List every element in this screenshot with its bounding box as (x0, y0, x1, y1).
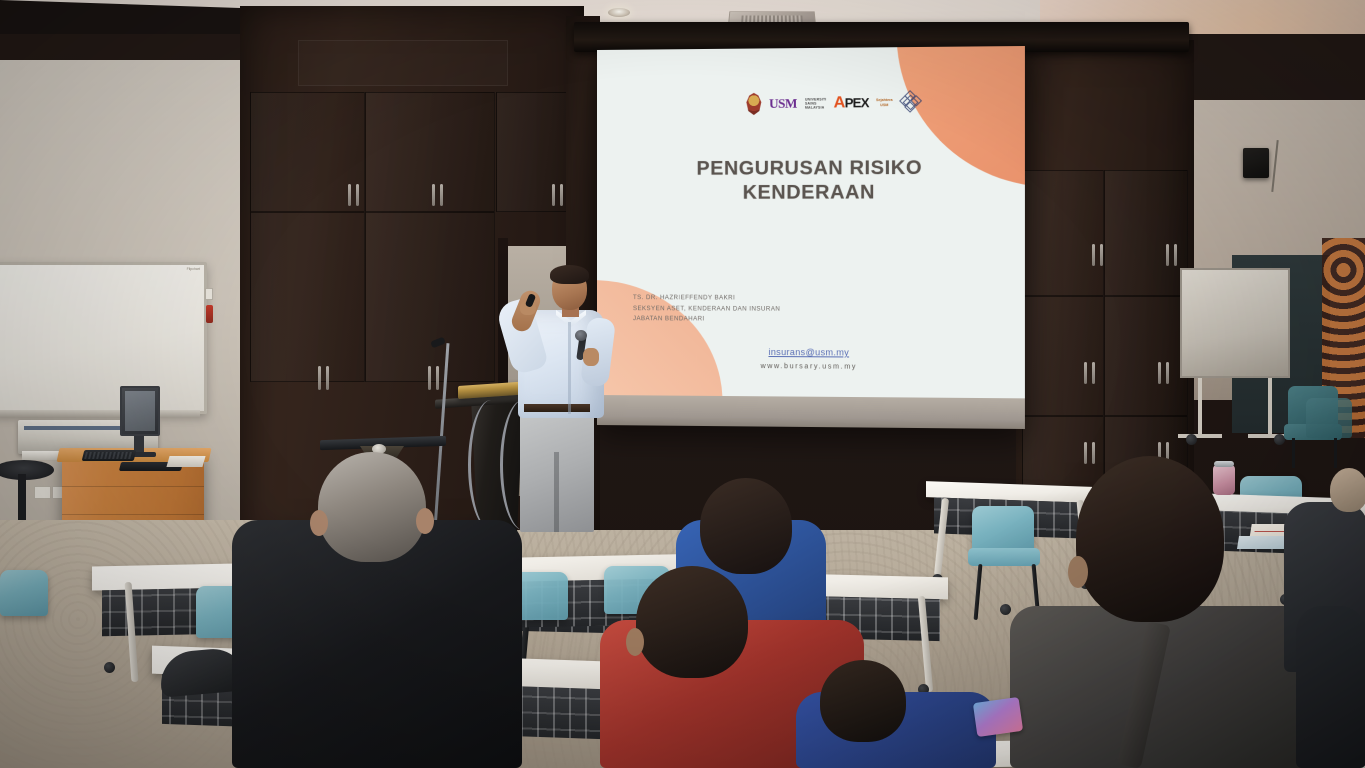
paper-stack (166, 456, 205, 467)
cabinet-handle[interactable] (1092, 442, 1095, 464)
slide-surface: USM UNIVERSITISAINSMALAYSIA APEX Sejahte… (597, 46, 1025, 398)
cabinet-handle[interactable] (1166, 362, 1169, 384)
cabinet-handle[interactable] (326, 366, 329, 390)
cabinet-wall-right (1016, 40, 1194, 510)
malaysia-crest-logo-icon (746, 93, 762, 115)
slide-title: PENGURUSAN RISIKO KENDERAAN (597, 156, 1025, 205)
cabinet-handle[interactable] (440, 184, 443, 206)
cabinet-handle[interactable] (318, 366, 321, 390)
wall-panel-box (205, 288, 213, 300)
department-line-2: JABATAN BENDAHARI (633, 314, 780, 325)
cabinet-handle[interactable] (436, 366, 439, 390)
cabinet-door[interactable] (250, 212, 365, 382)
cabinet-handle[interactable] (356, 184, 359, 206)
whiteboard-stand-leg (1268, 378, 1272, 436)
cabinet-handle[interactable] (1092, 244, 1095, 266)
projector-screen: USM UNIVERSITISAINSMALAYSIA APEX Sejahte… (597, 46, 1025, 429)
caster-wheel (1000, 604, 1011, 615)
whiteboard-stand-foot (1178, 434, 1222, 438)
presenter-hair (550, 265, 589, 284)
audience-head (318, 452, 426, 562)
cabinet-handle[interactable] (348, 184, 351, 206)
audience-ear (1068, 556, 1088, 588)
usm-logo-subtext: UNIVERSITISAINSMALAYSIA (804, 97, 826, 110)
cabinet-top-panel (298, 40, 508, 86)
fire-extinguisher-icon (206, 305, 213, 323)
presenter-right-hand (583, 348, 599, 366)
whiteboard-stand-leg (1198, 378, 1202, 436)
desktop-monitor[interactable] (120, 386, 160, 436)
slide-content: USM UNIVERSITISAINSMALAYSIA APEX Sejahte… (597, 46, 1025, 398)
audience-ear (310, 510, 328, 536)
diamond-pattern-logo-icon (900, 92, 923, 114)
cabinet-handle[interactable] (1084, 362, 1087, 384)
slide-logo-row: USM UNIVERSITISAINSMALAYSIA APEX Sejahte… (746, 88, 930, 120)
downlight-icon (608, 8, 630, 17)
cabinet-handle[interactable] (1174, 244, 1177, 266)
microphone-head-icon (575, 330, 587, 341)
presenter-leg-separation (554, 452, 559, 532)
cabinet-handle[interactable] (432, 184, 435, 206)
monitor-screen (125, 391, 155, 431)
cabinet-handle[interactable] (552, 184, 555, 206)
cabinet-door[interactable] (1104, 296, 1188, 416)
projector-screen-bottom-bar (597, 395, 1025, 429)
cabinet-door[interactable] (365, 212, 495, 382)
audience-body (1296, 606, 1365, 768)
bottle-cap (1214, 461, 1234, 467)
cabinet-handle[interactable] (1084, 442, 1087, 464)
chair-leg (1334, 438, 1337, 468)
whiteboard-brand-label: Flipchart (187, 267, 200, 271)
slide-title-line2: KENDERAAN (597, 181, 1025, 206)
chair-back[interactable] (972, 506, 1034, 554)
cabinet-door[interactable] (1022, 296, 1104, 416)
audience-head (636, 566, 748, 678)
electronic-device[interactable] (1237, 536, 1287, 549)
cabinet-handle[interactable] (428, 366, 431, 390)
slide-title-line1: PENGURUSAN RISIKO (597, 156, 1025, 181)
audience-head (700, 478, 792, 574)
cabinet-handle[interactable] (560, 184, 563, 206)
cabinet-handle[interactable] (1166, 244, 1169, 266)
apex-logo-icon: APEX (834, 94, 869, 112)
audience-head (820, 660, 906, 742)
chair-back[interactable] (0, 570, 48, 616)
cabinet-door[interactable] (365, 92, 495, 212)
smartphone[interactable] (973, 697, 1023, 737)
audience-head (1076, 456, 1224, 622)
sejahtera-usm-logo-icon: SejahteraUSM (876, 98, 893, 108)
teal-chair-back[interactable] (1306, 398, 1352, 438)
audience-ear (626, 628, 644, 656)
cabinet-handle[interactable] (1158, 362, 1161, 384)
slide-byline: TS. DR. HAZRIEFFENDY BAKRI SEKSYEN ASET,… (633, 293, 780, 326)
cabinet-door[interactable] (1104, 170, 1188, 296)
cabinet-door[interactable] (1022, 170, 1104, 296)
presenter-name: TS. DR. HAZRIEFFENDY BAKRI (633, 293, 780, 304)
cabinet-handle[interactable] (1100, 244, 1103, 266)
water-bottle[interactable] (1213, 465, 1235, 495)
keyboard[interactable] (82, 450, 137, 461)
audience-ear (416, 508, 434, 534)
caster-wheel (1186, 434, 1197, 445)
audience-head (1330, 468, 1365, 512)
department-line-1: SEKSYEN ASET, KENDERAAN DAN INSURAN (633, 304, 780, 315)
wall-whiteboard[interactable]: Flipchart (0, 262, 207, 414)
wall-speaker (1243, 148, 1269, 178)
presenter-belt (524, 404, 590, 412)
whiteboard-marker-tray (0, 410, 200, 417)
power-socket[interactable] (34, 486, 51, 499)
cabinet-handle[interactable] (1092, 362, 1095, 384)
caster-wheel (104, 662, 115, 673)
mobile-whiteboard[interactable] (1180, 268, 1290, 378)
usm-logo-icon: USM (769, 96, 797, 112)
chair-leg (1292, 438, 1295, 468)
presenter-shirt-placket (568, 322, 571, 414)
seminar-room-scene: USM UNIVERSITISAINSMALAYSIA APEX Sejahte… (0, 0, 1365, 768)
